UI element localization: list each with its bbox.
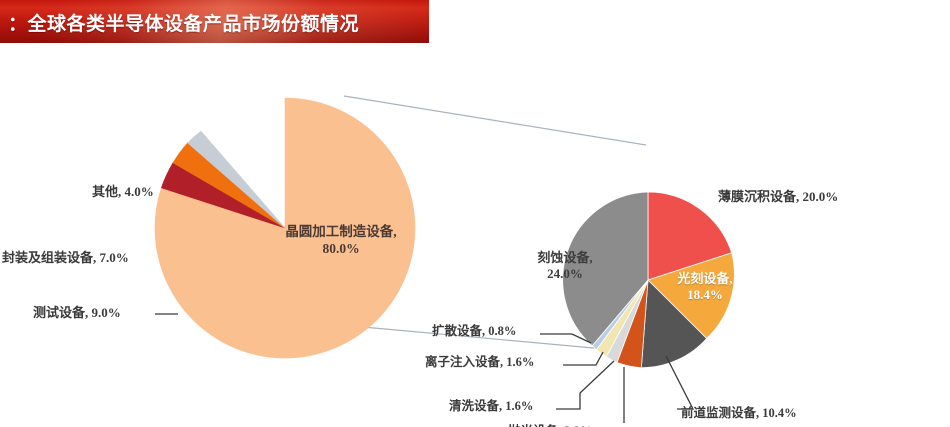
label-etch: 刻蚀设备, 24.0%: [525, 250, 605, 283]
page-title: ：全球各类半导体设备产品市场份额情况: [8, 9, 359, 36]
label-wafer-fab-value: 80.0%: [322, 241, 359, 256]
label-packaging: 封装及组装设备, 7.0%: [2, 250, 129, 266]
title-banner: ：全球各类半导体设备产品市场份额情况: [0, 0, 429, 43]
label-etch-name: 刻蚀设备,: [537, 250, 592, 265]
label-deposition: 薄膜沉积设备, 20.0%: [718, 189, 838, 205]
label-test: 测试设备, 9.0%: [33, 305, 121, 321]
label-wafer-fab: 晶圆加工制造设备, 80.0%: [266, 224, 416, 258]
label-implant: 离子注入设备, 1.6%: [425, 355, 534, 371]
label-other: 其他, 4.0%: [92, 184, 154, 200]
connector-line-top: [344, 96, 646, 145]
leader-line-clean: [556, 361, 614, 409]
label-diffusion: 扩散设备, 0.8%: [432, 324, 516, 340]
label-litho-name: 光刻设备,: [677, 271, 732, 286]
leader-line-metrology: [666, 356, 693, 409]
chart-page: ：全球各类半导体设备产品市场份额情况: [0, 0, 950, 427]
chart-canvas: 其他, 4.0% 封装及组装设备, 7.0% 测试设备, 9.0% 晶圆加工制造…: [0, 43, 950, 427]
leader-line-implant: [563, 352, 603, 365]
label-metrology: 前道监测设备, 10.4%: [681, 406, 797, 422]
label-wafer-fab-name: 晶圆加工制造设备,: [285, 224, 396, 239]
label-litho-value: 18.4%: [687, 287, 723, 302]
label-litho: 光刻设备, 18.4%: [662, 271, 748, 304]
label-etch-value: 24.0%: [547, 266, 583, 281]
label-clean: 清洗设备, 1.6%: [449, 399, 533, 415]
